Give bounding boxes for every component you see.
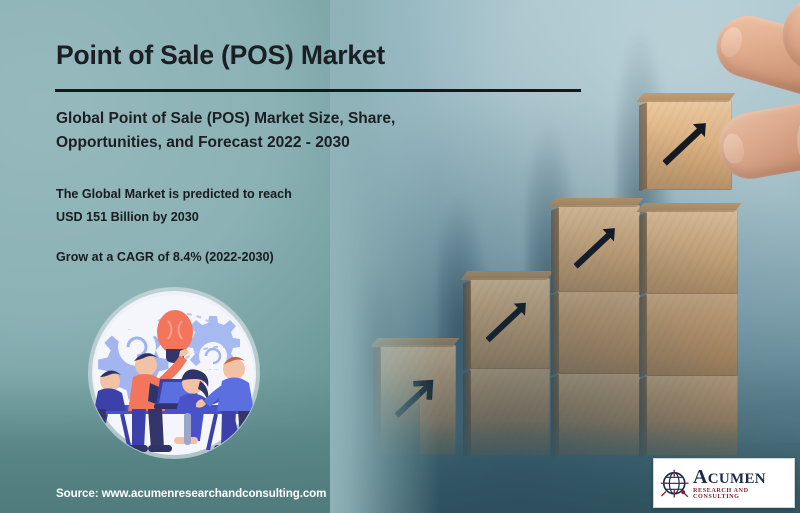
title-divider (55, 89, 581, 92)
arrow-up-right-icon (486, 294, 532, 347)
logo-tagline: RESEARCH AND CONSULTING (693, 488, 790, 500)
subtitle-line-1: Global Point of Sale (POS) Market Size, … (56, 107, 476, 131)
stat-line-2: USD 151 Billion by 2030 (56, 206, 416, 229)
logo-text: ACUMEN RESEARCH AND CONSULTING (693, 467, 790, 500)
arrow-up-right-icon (663, 116, 713, 168)
infographic-canvas: Point of Sale (POS) Market Global Point … (0, 0, 800, 513)
arrow-up-right-icon (574, 221, 622, 271)
source-label: Source: www.acumenresearchandconsulting.… (56, 487, 326, 500)
wooden-block (558, 290, 640, 374)
teamwork-illustration (62, 285, 290, 460)
wooden-block (558, 205, 640, 292)
subtitle: Global Point of Sale (POS) Market Size, … (56, 107, 476, 154)
wooden-block (646, 292, 738, 376)
acumen-logo[interactable]: ACUMEN RESEARCH AND CONSULTING (653, 458, 795, 508)
page-title: Point of Sale (POS) Market (56, 40, 526, 70)
market-stat: The Global Market is predicted to reach … (56, 183, 416, 230)
wooden-block (470, 278, 550, 369)
stat-line-1: The Global Market is predicted to reach (56, 183, 416, 206)
logo-name: ACUMEN (693, 466, 766, 488)
globe-icon (660, 469, 690, 499)
wooden-block (646, 210, 738, 294)
subtitle-line-2: Opportunities, and Forecast 2022 - 2030 (56, 131, 476, 155)
cagr-stat: Grow at a CAGR of 8.4% (2022-2030) (56, 250, 416, 264)
